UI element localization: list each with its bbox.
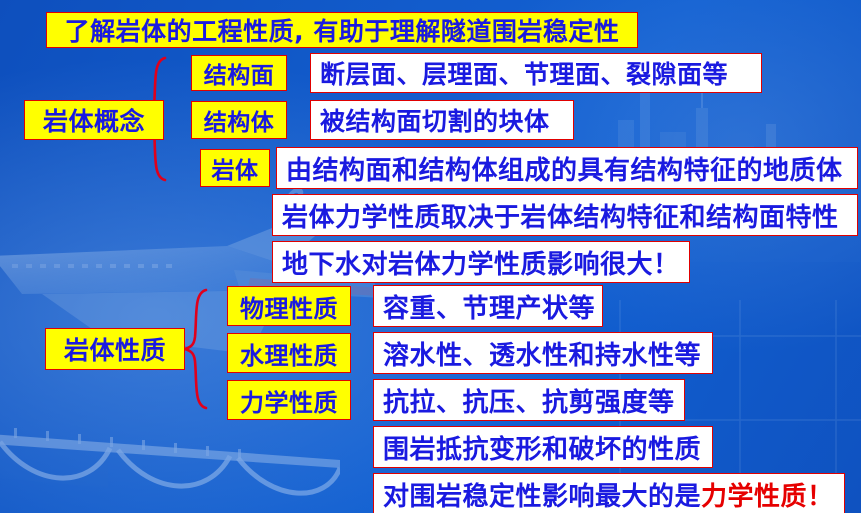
group-label-rock-mass-concept: 岩体概念 [24,100,164,140]
curly-brace-lower-icon [182,287,214,411]
term-yanti: 岩体 [200,149,270,187]
conclusion-emphasis: 力学性质！ [701,476,834,513]
group-label-rock-mass-properties: 岩体性质 [45,328,185,370]
definition-wuli-xingzhi: 容重、节理产状等 [373,285,603,327]
conclusion-statement: 对围岩稳定性影响最大的是力学性质！ [373,473,845,513]
term-wuli-xingzhi: 物理性质 [227,286,351,326]
note-mechanical-properties: 岩体力学性质取决于岩体结构特征和结构面特性 [272,194,858,236]
slide-title: 了解岩体的工程性质, 有助于理解隧道围岩稳定性 [46,12,638,48]
note-groundwater-effect: 地下水对岩体力学性质影响很大！ [272,241,690,283]
definition-shuili-xingzhi: 溶水性、透水性和持水性等 [373,332,713,374]
term-jiegouti: 结构体 [191,101,287,139]
term-lixue-xingzhi: 力学性质 [227,380,351,420]
conclusion-prefix: 对围岩稳定性影响最大的是 [383,476,701,513]
definition-jiegoumian: 断层面、层理面、节理面、裂隙面等 [310,53,762,93]
definition-yanti: 由结构面和结构体组成的具有结构特征的地质体 [276,147,858,189]
slide-canvas: A3 了解岩体的工程性质 [0,0,861,513]
definition-lixue-xingzhi: 抗拉、抗压、抗剪强度等 [373,379,685,421]
note-deformation-resistance: 围岩抵抗变形和破坏的性质 [373,426,713,468]
term-shuili-xingzhi: 水理性质 [227,333,351,373]
definition-jiegouti: 被结构面切割的块体 [310,100,574,140]
term-jiegoumian: 结构面 [191,55,287,91]
